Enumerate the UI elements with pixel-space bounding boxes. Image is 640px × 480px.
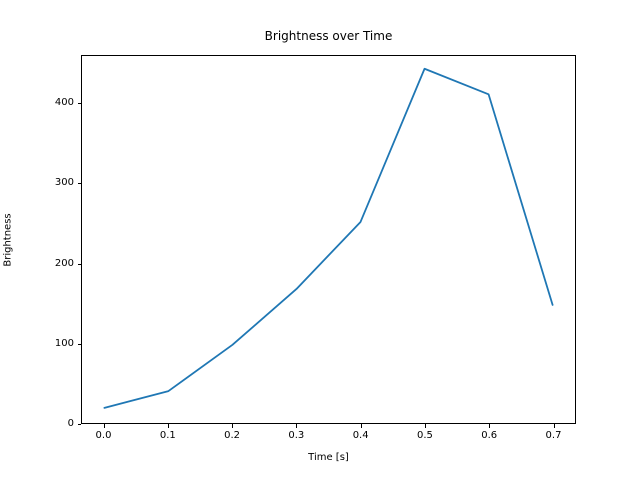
y-tick-label: 0 (68, 419, 74, 429)
x-tick-mark (104, 424, 105, 428)
x-tick-mark (554, 424, 555, 428)
plot-axes-area (81, 55, 576, 424)
y-tick-mark (78, 183, 82, 184)
x-tick-label: 0.2 (202, 431, 262, 441)
x-tick-label: 0.5 (395, 431, 455, 441)
y-tick-label: 100 (55, 339, 74, 349)
x-tick-mark (361, 424, 362, 428)
x-tick-mark (168, 424, 169, 428)
data-series-line (104, 69, 552, 408)
y-tick-mark (78, 344, 82, 345)
x-tick-label: 0.4 (331, 431, 391, 441)
chart-title: Brightness over Time (81, 29, 576, 43)
x-axis-label: Time [s] (81, 452, 576, 464)
x-tick-label: 0.6 (459, 431, 519, 441)
y-tick-label: 400 (55, 98, 74, 108)
x-tick-label: 0.1 (138, 431, 198, 441)
y-tick-mark (78, 264, 82, 265)
x-tick-mark (232, 424, 233, 428)
y-tick-mark (78, 424, 82, 425)
y-tick-label: 300 (55, 178, 74, 188)
y-axis-label: Brightness (1, 56, 17, 425)
x-tick-label: 0.3 (266, 431, 326, 441)
x-tick-label: 0.0 (74, 431, 134, 441)
x-axis-tick-labels: 0.00.10.20.30.40.50.60.7 (0, 431, 640, 445)
x-tick-mark (489, 424, 490, 428)
plot-svg (82, 56, 575, 423)
x-tick-mark (425, 424, 426, 428)
x-tick-mark (296, 424, 297, 428)
figure-canvas: Brightness over Time 0100200300400 0.00.… (0, 0, 640, 480)
y-tick-mark (78, 103, 82, 104)
y-tick-label: 200 (55, 259, 74, 269)
x-tick-label: 0.7 (524, 431, 584, 441)
